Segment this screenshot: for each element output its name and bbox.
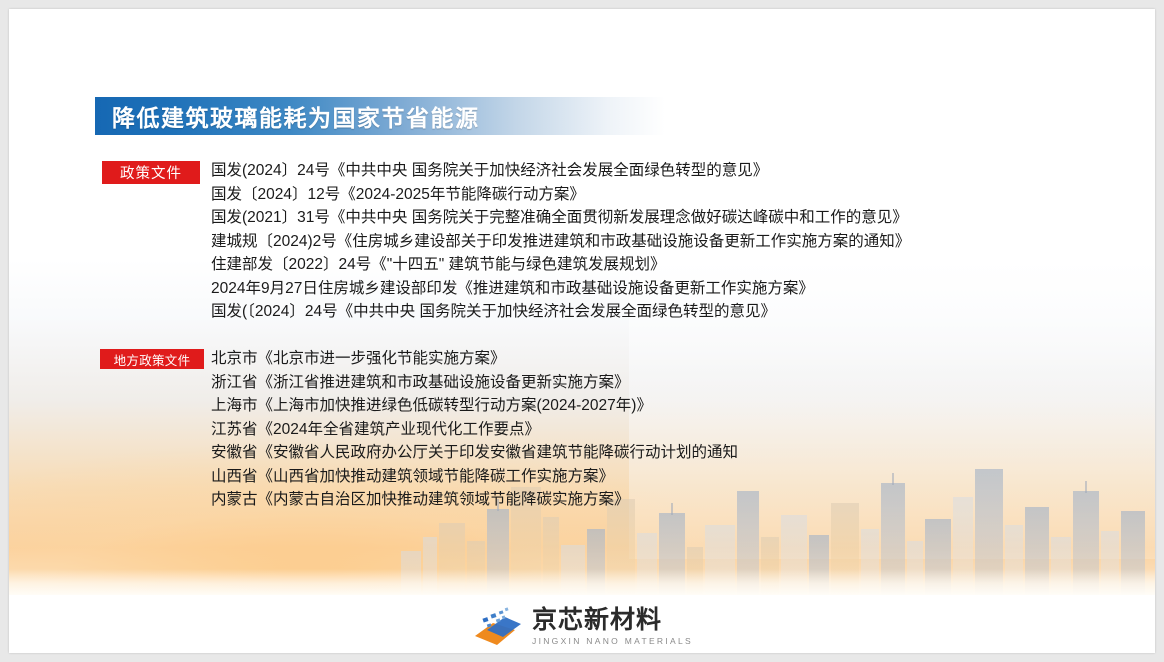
list-item: 浙江省《浙江省推进建筑和市政基础设施设备更新实施方案》: [211, 371, 738, 395]
list-item: 国发(2024〕24号《中共中央 国务院关于加快经济社会发展全面绿色转型的意见》: [211, 159, 910, 183]
logo-text: 京芯新材料 JINGXIN NANO MATERIALS: [532, 608, 693, 646]
slide-canvas: 降低建筑玻璃能耗为国家节省能源 政策文件 国发(2024〕24号《中共中央 国务…: [9, 9, 1155, 653]
logo-name-cn: 京芯新材料: [532, 608, 693, 633]
jingxin-logo-icon: [471, 606, 523, 648]
company-logo: 京芯新材料 JINGXIN NANO MATERIALS: [471, 606, 693, 648]
list-item: 建城规〔2024)2号《住房城乡建设部关于印发推进建筑和市政基础设施设备更新工作…: [211, 230, 910, 254]
list-item: 江苏省《2024年全省建筑产业现代化工作要点》: [211, 418, 738, 442]
list-item: 山西省《山西省加快推动建筑领域节能降碳工作实施方案》: [211, 465, 738, 489]
list-item: 北京市《北京市进一步强化节能实施方案》: [211, 347, 738, 371]
slide-title-bar: 降低建筑玻璃能耗为国家节省能源: [95, 97, 665, 135]
footer: 京芯新材料 JINGXIN NANO MATERIALS: [9, 601, 1155, 653]
list-item: 上海市《上海市加快推进绿色低碳转型行动方案(2024-2027年)》: [211, 394, 738, 418]
local-policy-document-list: 北京市《北京市进一步强化节能实施方案》 浙江省《浙江省推进建筑和市政基础设施设备…: [211, 347, 738, 512]
badge-policy-documents: 政策文件: [102, 161, 200, 184]
list-item: 国发(2021〕31号《中共中央 国务院关于完整准确全面贯彻新发展理念做好碳达峰…: [211, 206, 910, 230]
policy-document-list: 国发(2024〕24号《中共中央 国务院关于加快经济社会发展全面绿色转型的意见》…: [211, 159, 910, 324]
slide-frame: 降低建筑玻璃能耗为国家节省能源 政策文件 国发(2024〕24号《中共中央 国务…: [0, 0, 1164, 662]
list-item: 内蒙古《内蒙古自治区加快推动建筑领域节能降碳实施方案》: [211, 488, 738, 512]
list-item: 2024年9月27日住房城乡建设部印发《推进建筑和市政基础设施设备更新工作实施方…: [211, 277, 910, 301]
badge-local-policy-documents: 地方政策文件: [100, 349, 204, 369]
logo-name-en: JINGXIN NANO MATERIALS: [532, 637, 693, 646]
list-item: 国发〔2024〕12号《2024-2025年节能降碳行动方案》: [211, 183, 910, 207]
list-item: 安徽省《安徽省人民政府办公厅关于印发安徽省建筑节能降碳行动计划的通知: [211, 441, 738, 465]
list-item: 住建部发〔2022〕24号《"十四五" 建筑节能与绿色建筑发展规划》: [211, 253, 910, 277]
list-item: 国发(〔2024〕24号《中共中央 国务院关于加快经济社会发展全面绿色转型的意见…: [211, 300, 910, 324]
page-title: 降低建筑玻璃能耗为国家节省能源: [112, 99, 480, 133]
